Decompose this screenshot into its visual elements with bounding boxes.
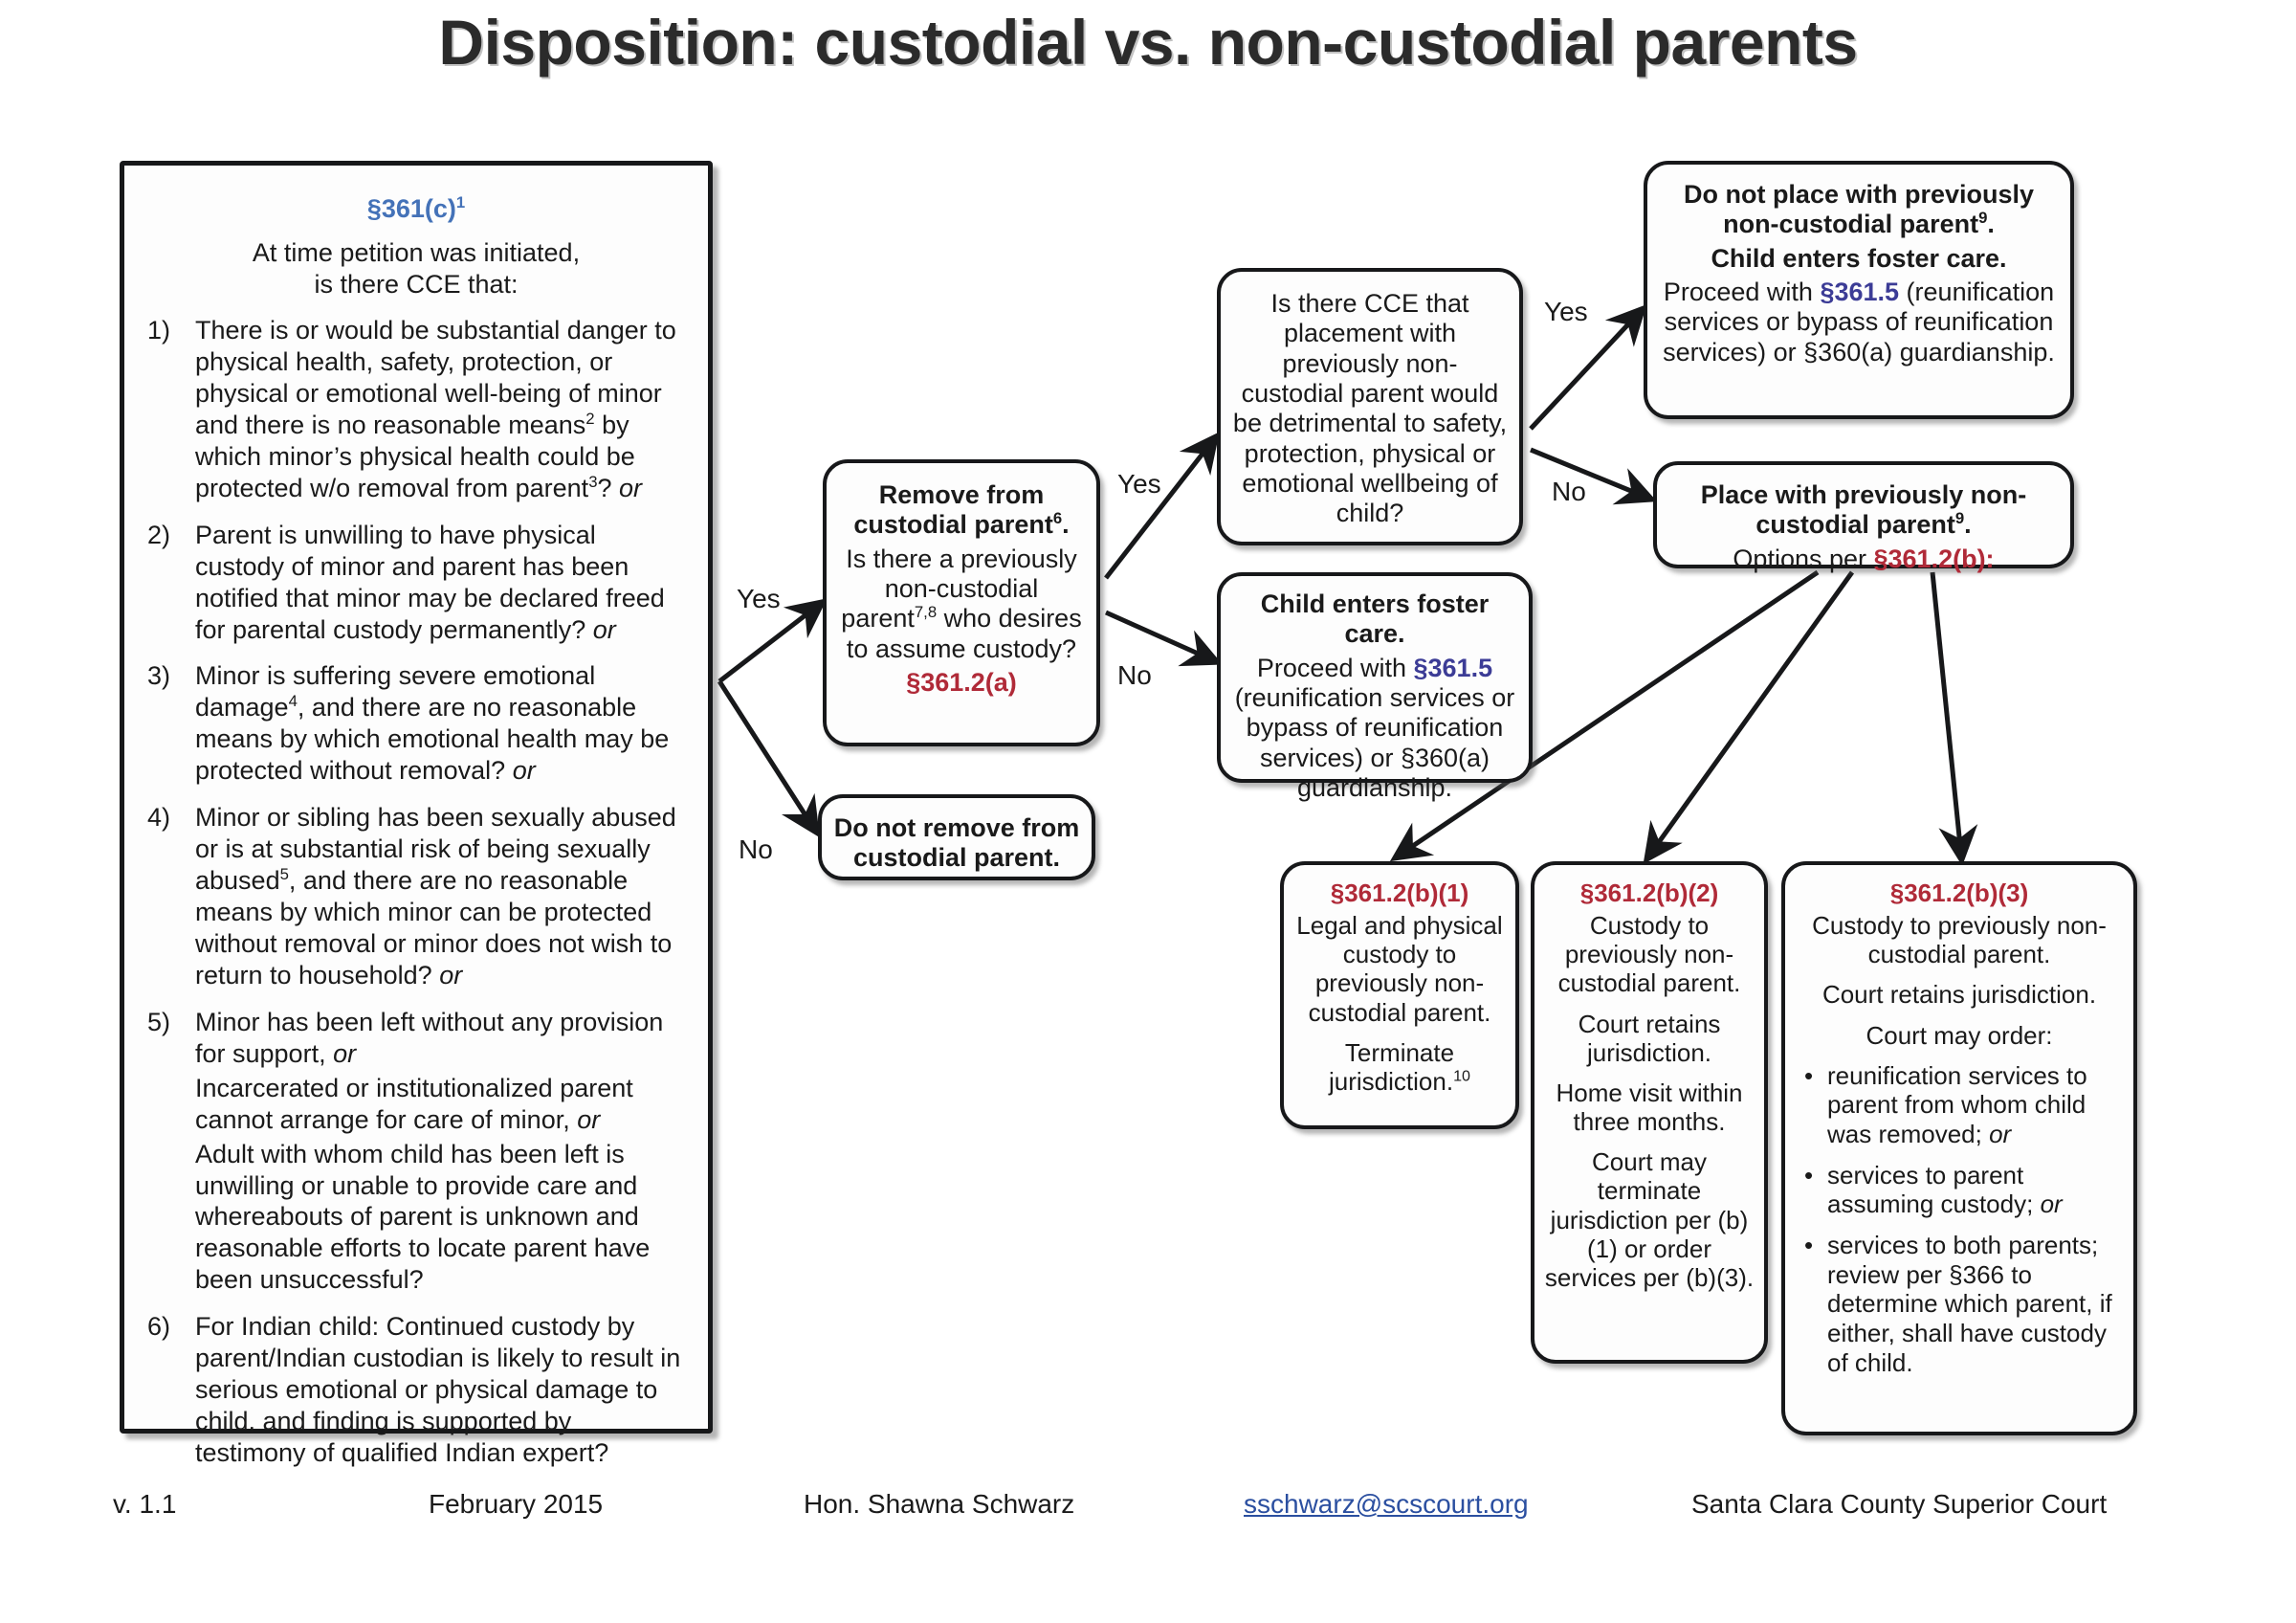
node-citation: §361.2(a)	[836, 668, 1087, 698]
node-361-2-b-1: §361.2(b)(1) Legal and physical custody …	[1280, 861, 1519, 1129]
list-item: services to both parents; review per §36…	[1799, 1231, 2120, 1377]
node-361-2-b-3: §361.2(b)(3) Custody to previously non-c…	[1781, 861, 2137, 1435]
node-body: Proceed with §361.5 (reunification servi…	[1661, 278, 2057, 367]
node-subheading: Child enters foster care.	[1661, 244, 2057, 274]
diagram-canvas: Disposition: custodial vs. non-custodial…	[0, 0, 2296, 1623]
node-body: Court retains jurisdiction.	[1799, 980, 2120, 1009]
node-body: Court may terminate jurisdiction per (b)…	[1542, 1147, 1756, 1292]
node-body: Custody to previously non-custodial pare…	[1542, 911, 1756, 997]
list-item: 2) Parent is unwilling to have physical …	[143, 520, 689, 646]
node-body: Court may order:	[1799, 1021, 2120, 1050]
list-subitem: Incarcerated or institutionalized parent…	[195, 1073, 689, 1136]
edge-label-cce-yes: Yes	[1544, 297, 1588, 327]
node-remove-from-custodial-parent: Remove from custodial parent6. Is there …	[823, 459, 1100, 746]
node-heading: Child enters foster care.	[1232, 589, 1517, 650]
panel-lead: At time petition was initiated, is there…	[143, 237, 689, 300]
node-do-not-remove: Do not remove from custodial parent.	[818, 794, 1095, 880]
footer: v. 1.1 February 2015 Hon. Shawna Schwarz…	[0, 1489, 2296, 1537]
list-subitem: Adult with whom child has been left is u…	[195, 1139, 689, 1297]
node-heading: Do not place with previously non-custodi…	[1661, 180, 2057, 240]
edge-label-cce-no: No	[1552, 477, 1586, 507]
node-body: Is there a previously non-custodial pare…	[836, 545, 1087, 664]
list-item: 1) There is or would be substantial dang…	[143, 315, 689, 504]
list-item: 4) Minor or sibling has been sexually ab…	[143, 802, 689, 991]
edge-label-remove-yes: Yes	[1117, 469, 1161, 500]
node-do-not-place: Do not place with previously non-custodi…	[1644, 161, 2074, 419]
node-body: Options per §361.2(b):	[1670, 545, 2057, 574]
panel-section-heading: §361(c)1	[143, 194, 689, 224]
criteria-list: 1) There is or would be substantial dang…	[143, 315, 689, 1469]
footer-version: v. 1.1	[113, 1489, 176, 1520]
node-body: Proceed with §361.5 (reunification servi…	[1232, 654, 1517, 804]
node-citation: §361.2(b)(1)	[1293, 878, 1506, 907]
footer-email-link[interactable]: sschwarz@scscourt.org	[1244, 1489, 1529, 1520]
node-body: Home visit within three months.	[1542, 1078, 1756, 1136]
node-body: Custody to previously non-custodial pare…	[1799, 911, 2120, 968]
node-heading: Do not remove from custodial parent.	[831, 813, 1082, 874]
footnote-marker: 1	[456, 193, 465, 211]
node-body-2: Terminate jurisdiction.10	[1293, 1038, 1506, 1096]
footer-court: Santa Clara County Superior Court	[1691, 1489, 2107, 1520]
list-item: reunification services to parent from wh…	[1799, 1061, 2120, 1149]
footer-date: February 2015	[429, 1489, 603, 1520]
list-item: services to parent assuming custody; or	[1799, 1161, 2120, 1219]
node-place-with-noncustodial: Place with previously non-custodial pare…	[1653, 461, 2074, 568]
node-cce-detriment-question: Is there CCE that placement with previou…	[1217, 268, 1523, 545]
footer-author: Hon. Shawna Schwarz	[804, 1489, 1074, 1520]
list-item: 6) For Indian child: Continued custody b…	[143, 1311, 689, 1469]
edge-label-panel-yes: Yes	[737, 584, 781, 614]
node-child-enters-foster-care: Child enters foster care. Proceed with §…	[1217, 572, 1533, 783]
node-bullet-list: reunification services to parent from wh…	[1799, 1061, 2120, 1378]
node-body: Court retains jurisdiction.	[1542, 1010, 1756, 1067]
node-citation: §361.2(b)(3)	[1799, 878, 2120, 907]
list-item: 5) Minor has been left without any provi…	[143, 1007, 689, 1296]
edge-label-remove-no: No	[1117, 660, 1152, 691]
edge-label-panel-no: No	[739, 834, 773, 865]
node-heading: Place with previously non-custodial pare…	[1670, 480, 2057, 541]
node-citation: §361.2(b)(2)	[1542, 878, 1756, 907]
node-361-2-b-2: §361.2(b)(2) Custody to previously non-c…	[1531, 861, 1768, 1364]
list-item: 3) Minor is suffering severe emotional d…	[143, 660, 689, 787]
node-heading: Remove from custodial parent6.	[836, 480, 1087, 541]
node-body: Is there CCE that placement with previou…	[1232, 289, 1508, 529]
criteria-panel: §361(c)1 At time petition was initiated,…	[120, 161, 713, 1434]
node-body: Legal and physical custody to previously…	[1293, 911, 1506, 1027]
